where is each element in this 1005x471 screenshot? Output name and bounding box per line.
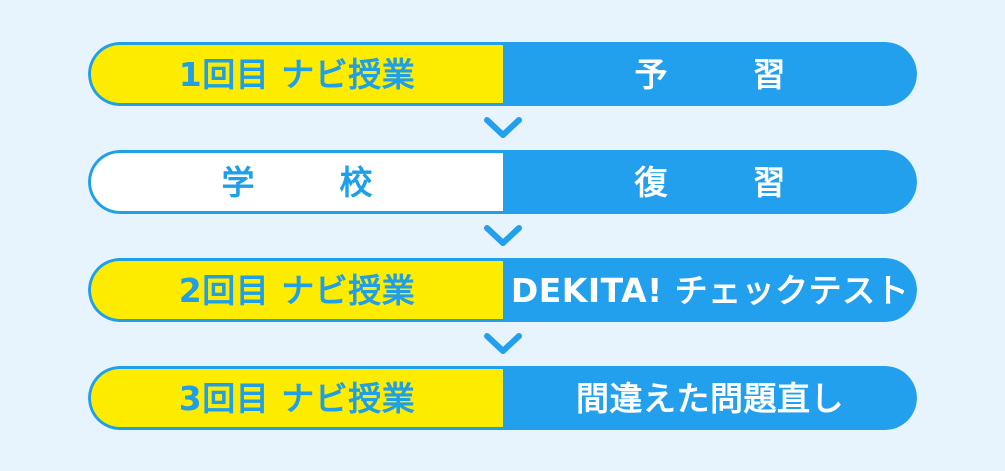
flow-row: 1回目 ナビ授業 予 習 xyxy=(88,42,917,106)
flow-step-left-1[interactable]: 1回目 ナビ授業 xyxy=(88,42,503,106)
flow-connector-1 xyxy=(88,106,917,150)
flow-step-left-label-2: 学 校 xyxy=(196,166,399,199)
flow-step-left-4[interactable]: 3回目 ナビ授業 xyxy=(88,366,503,430)
flow-step-right-label-2: 復 習 xyxy=(609,166,812,199)
flow-step-right-label-3: DEKITA! チェックテスト xyxy=(511,274,909,307)
flow-row: 3回目 ナビ授業 間違えた問題直し xyxy=(88,366,917,430)
flow-step-left-label-4: 3回目 ナビ授業 xyxy=(179,382,415,415)
flow-step-left-3[interactable]: 2回目 ナビ授業 xyxy=(88,258,503,322)
flow-step-right-1[interactable]: 予 習 xyxy=(503,42,917,106)
chevron-down-icon xyxy=(483,332,523,356)
flow-step-right-3[interactable]: DEKITA! チェックテスト xyxy=(503,258,917,322)
chevron-down-icon xyxy=(483,116,523,140)
flow-connector-3 xyxy=(88,322,917,366)
flow-step-left-2[interactable]: 学 校 xyxy=(88,150,503,214)
flow-step-right-4[interactable]: 間違えた問題直し xyxy=(503,366,917,430)
flow-step-right-2[interactable]: 復 習 xyxy=(503,150,917,214)
flow-row: 学 校 復 習 xyxy=(88,150,917,214)
flow-step-right-label-1: 予 習 xyxy=(609,58,812,91)
study-flow-diagram: 1回目 ナビ授業 予 習 学 校 復 習 2回目 ナビ授業 xyxy=(0,0,1005,471)
flow-step-right-label-4: 間違えた問題直し xyxy=(576,382,844,415)
flow-connector-2 xyxy=(88,214,917,258)
flow-step-left-label-3: 2回目 ナビ授業 xyxy=(179,274,415,307)
flow-row: 2回目 ナビ授業 DEKITA! チェックテスト xyxy=(88,258,917,322)
flow-step-left-label-1: 1回目 ナビ授業 xyxy=(179,58,415,91)
chevron-down-icon xyxy=(483,224,523,248)
